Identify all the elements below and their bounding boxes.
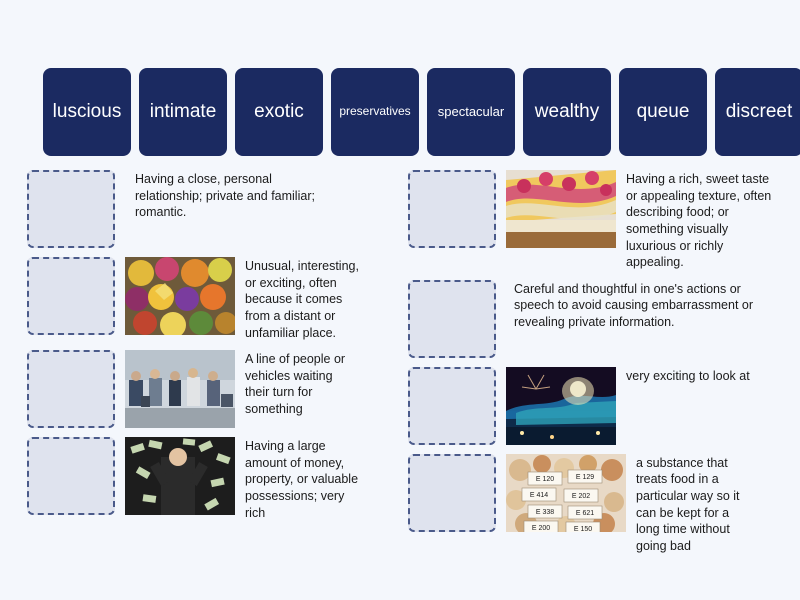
food-additives-e-numbers-photo: E 120 E 129 E 414 E 202 E 338 E 621 E 20… [506,454,626,532]
word-tile-label: exotic [254,102,304,123]
drop-zone[interactable] [27,170,115,248]
svg-text:E 338: E 338 [536,509,554,516]
word-tile-preservatives[interactable]: preservatives [331,68,419,156]
word-tile-label: spectacular [438,105,504,119]
drop-zone[interactable] [27,350,115,428]
svg-text:E 414: E 414 [530,492,548,499]
answer-row: Having a close, personal relationship; p… [27,170,397,248]
left-answer-column: Having a close, personal relationship; p… [27,170,397,530]
word-tile-spectacular[interactable]: spectacular [427,68,515,156]
answer-row-content: Careful and thoughtful in one's actions … [506,280,779,331]
answer-row-content: very exciting to look at [506,367,771,445]
answer-row-content: Unusual, interesting, or exciting, often… [125,257,365,341]
answer-row-content: Having a rich, sweet taste or appealing … [506,170,776,271]
word-tiles-row: luscious intimate exotic preservatives s… [43,68,800,156]
svg-text:E 621: E 621 [576,510,594,517]
definition-text: Careful and thoughtful in one's actions … [514,280,779,331]
definition-text: Having a large amount of money, property… [245,437,365,521]
answer-row: Having a rich, sweet taste or appealing … [408,170,778,271]
drop-zone[interactable] [408,170,496,248]
drop-zone[interactable] [27,257,115,335]
answer-row-content: A line of people or vehicles waiting the… [125,350,360,428]
word-tile-label: luscious [53,102,122,123]
word-tile-label: intimate [150,102,217,123]
exotic-fruits-photo [125,257,235,335]
answer-row: E 120 E 129 E 414 E 202 E 338 E 621 E 20… [408,454,778,555]
right-answer-column: Having a rich, sweet taste or appealing … [408,170,778,564]
definition-text: Having a close, personal relationship; p… [135,170,335,221]
word-tile-discreet[interactable]: discreet [715,68,800,156]
svg-text:E 200: E 200 [532,525,550,532]
drop-zone[interactable] [408,367,496,445]
raspberry-cheesecake-photo [506,170,616,248]
word-tile-label: preservatives [339,105,410,118]
answer-row: Unusual, interesting, or exciting, often… [27,257,397,341]
definition-text: A line of people or vehicles waiting the… [245,350,360,418]
answer-row: A line of people or vehicles waiting the… [27,350,397,428]
word-tile-exotic[interactable]: exotic [235,68,323,156]
word-tile-label: queue [637,102,690,123]
money-falling-man-photo [125,437,235,515]
svg-text:E 150: E 150 [574,526,592,532]
svg-text:E 202: E 202 [572,493,590,500]
word-tile-label: discreet [726,102,793,123]
word-tile-queue[interactable]: queue [619,68,707,156]
answer-row-content: E 120 E 129 E 414 E 202 E 338 E 621 E 20… [506,454,756,555]
answer-row: Careful and thoughtful in one's actions … [408,280,778,358]
word-tile-luscious[interactable]: luscious [43,68,131,156]
definition-text: Unusual, interesting, or exciting, often… [245,257,365,341]
word-tile-wealthy[interactable]: wealthy [523,68,611,156]
drop-zone[interactable] [408,280,496,358]
answer-row-content: Having a close, personal relationship; p… [125,170,335,221]
word-tile-label: wealthy [535,102,599,123]
svg-text:E 129: E 129 [576,474,594,481]
answer-row: very exciting to look at [408,367,778,445]
drop-zone[interactable] [408,454,496,532]
word-tile-intimate[interactable]: intimate [139,68,227,156]
definition-text: Having a rich, sweet taste or appealing … [626,170,776,271]
fireworks-show-photo [506,367,616,445]
answer-row-content: Having a large amount of money, property… [125,437,365,521]
svg-text:E 120: E 120 [536,476,554,483]
queue-of-people-photo [125,350,235,428]
drop-zone[interactable] [27,437,115,515]
definition-text: very exciting to look at [626,367,771,385]
definition-text: a substance that treats food in a partic… [636,454,756,555]
answer-row: Having a large amount of money, property… [27,437,397,521]
